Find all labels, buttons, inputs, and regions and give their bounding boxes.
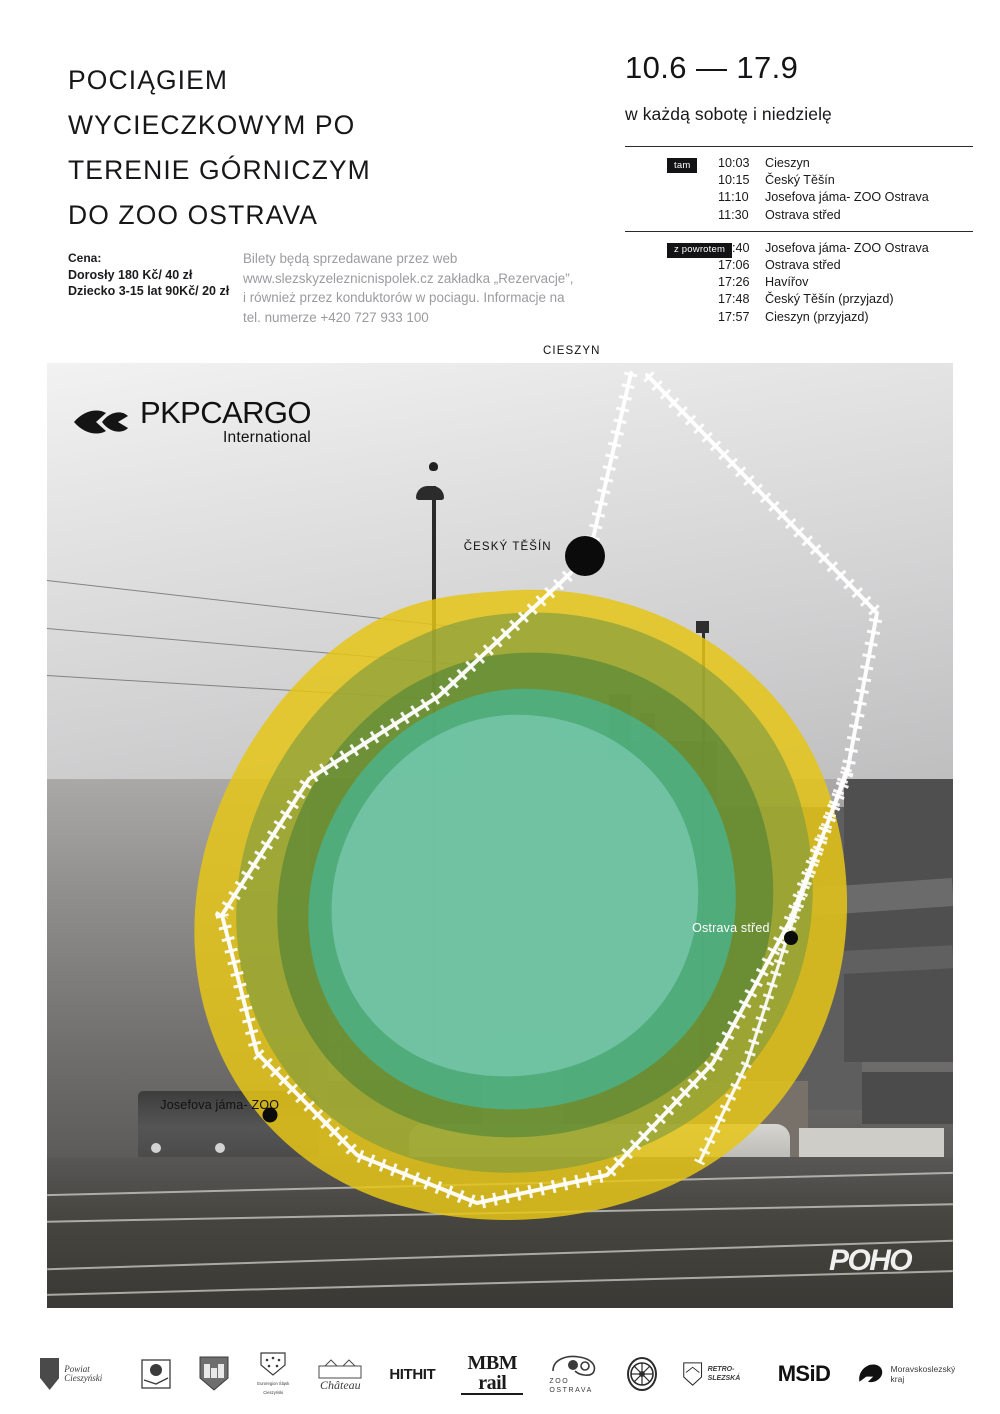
- timetable: tam 10:03 Cieszyn 10:15 Český Těšín 11:1…: [625, 146, 973, 333]
- route-path-main-ties: [222, 373, 877, 1203]
- table-row: 11:30 Ostrava střed: [718, 207, 973, 224]
- pkp-wordmark: PKPCARGO: [140, 397, 311, 429]
- retro-crest-icon: [683, 1358, 702, 1390]
- stop-name: Havířov: [765, 274, 808, 291]
- timetable-outbound: tam 10:03 Cieszyn 10:15 Český Těšín 11:1…: [625, 147, 973, 231]
- tickets-line-4: tel. numerze +420 727 933 100: [243, 308, 613, 328]
- photo-panel: 730 639-2: [47, 363, 953, 1308]
- weekdays-text: w każdą sobotę i niedzielę: [625, 104, 832, 125]
- msk-eagle-icon: [856, 1359, 885, 1389]
- date-range: 10.6 — 17.9: [625, 50, 798, 86]
- sponsor-label: RETRO-SLEZSKÁ: [708, 1365, 752, 1383]
- sponsor-label: MSiD: [778, 1361, 831, 1387]
- map-node-ostrava-stred: [784, 931, 798, 945]
- timetable-return: z powrotem 16:40 Josefova jáma- ZOO Ostr…: [625, 232, 973, 333]
- sponsor-label: Moravskoslezský kraj: [891, 1364, 960, 1384]
- towers-crest-icon: [199, 1356, 229, 1392]
- poster-root: POCIĄGIEM WYCIECZKOWYM PO TERENIE GÓRNIC…: [0, 0, 1000, 1414]
- stop-time: 17:06: [718, 257, 765, 274]
- stop-time: 10:15: [718, 172, 765, 189]
- zoo-elephant-icon: [549, 1353, 601, 1377]
- sponsor-msid: MSiD: [778, 1361, 831, 1387]
- price-adult: Dorosły 180 Kč/ 40 zł: [68, 267, 248, 284]
- sponsor-chateau: Château: [317, 1358, 363, 1390]
- stop-time: 10:03: [718, 155, 765, 172]
- tickets-line-3: i również przez konduktorów w pociagu. I…: [243, 288, 613, 308]
- stop-name: Cieszyn (przyjazd): [765, 309, 869, 326]
- sponsor-label: Powiat Cieszyński: [64, 1365, 113, 1383]
- stop-name: Ostrava střed: [765, 207, 841, 224]
- sponsor-label: HITHIT: [389, 1366, 435, 1383]
- pkp-cargo-logo: PKPCARGO International: [72, 397, 311, 446]
- map-label-josefova: Josefova jáma- ZOO: [160, 1098, 279, 1112]
- sponsor-label: MBM rail: [461, 1353, 523, 1395]
- table-row: 17:06 Ostrava střed: [718, 257, 973, 274]
- sponsor-mesto: [199, 1356, 229, 1392]
- tickets-info: Bilety będą sprzedawane przez web www.sl…: [243, 249, 613, 327]
- stop-time: 11:10: [718, 189, 765, 206]
- sponsor-slezsky-zeleznicni-spolek: [627, 1357, 657, 1391]
- stop-time: 11:30: [718, 207, 765, 224]
- stars-crest-icon: [255, 1351, 291, 1377]
- stop-name: Český Těšín: [765, 172, 835, 189]
- sponsor-euroregion: Euroregion Śląsk Cieszyński: [255, 1351, 291, 1397]
- stop-name: Josefova jáma- ZOO Ostrava: [765, 240, 929, 257]
- sponsor-powiat-cieszynski: Powiat Cieszyński: [40, 1358, 113, 1390]
- sponsor-goleszow: [139, 1356, 173, 1392]
- sponsor-moravskoslezsky-kraj: Moravskoslezský kraj: [856, 1359, 960, 1389]
- stop-time: 17:26: [718, 274, 765, 291]
- route-line: [47, 363, 953, 1308]
- price-label: Cena:: [68, 250, 248, 267]
- price-child: Dziecko 3-15 lat 90Kč/ 20 zł: [68, 283, 248, 300]
- sponsor-retro-slezska: RETRO-SLEZSKÁ: [683, 1358, 751, 1390]
- table-row: 10:15 Český Těšín: [718, 172, 973, 189]
- wheel-icon: [629, 1361, 655, 1387]
- page-title: POCIĄGIEM WYCIECZKOWYM PO TERENIE GÓRNIC…: [68, 58, 588, 238]
- tag-outbound: tam: [667, 158, 697, 173]
- sponsor-hithit: HITHIT: [389, 1366, 435, 1383]
- route-path-main: [222, 373, 877, 1203]
- pkp-arrow-icon: [72, 405, 130, 439]
- stop-time: 17:48: [718, 291, 765, 308]
- table-row: 10:03 Cieszyn: [718, 155, 973, 172]
- table-row: 17:26 Havířov: [718, 274, 973, 291]
- stop-name: Ostrava střed: [765, 257, 841, 274]
- sponsor-label: ZOO OSTRAVA: [549, 1377, 601, 1395]
- price-block: Cena: Dorosły 180 Kč/ 40 zł Dziecko 3-15…: [68, 250, 248, 300]
- map-label-ostrava-stred: Ostrava střed: [692, 921, 770, 935]
- grape-crest-icon: [139, 1356, 173, 1392]
- tag-return: z powrotem: [667, 243, 732, 258]
- table-row: 17:57 Cieszyn (przyjazd): [718, 309, 973, 326]
- sponsor-strip: Powiat Cieszyński Eu: [0, 1334, 1000, 1414]
- title-line-2: WYCIECZKOWYM PO: [68, 103, 588, 148]
- title-line-3: TERENIE GÓRNICZYM: [68, 148, 588, 193]
- map-label-cesky-tesin: ČESKÝ TĚŠÍN: [464, 541, 552, 553]
- stop-name: Cieszyn: [765, 155, 810, 172]
- table-row: 16:40 Josefova jáma- ZOO Ostrava: [718, 240, 973, 257]
- tickets-line-1: Bilety będą sprzedawane przez web: [243, 249, 613, 269]
- table-row: 17:48 Český Těšín (przyjazd): [718, 291, 973, 308]
- stop-name: Český Těšín (przyjazd): [765, 291, 894, 308]
- poho-logo: POHO: [829, 1244, 911, 1278]
- stop-name: Josefova jáma- ZOO Ostrava: [765, 189, 929, 206]
- title-line-4: DO ZOO OSTRAVA: [68, 193, 588, 238]
- pkp-sub-wordmark: International: [140, 429, 311, 446]
- sponsor-label: Euroregion Śląsk Cieszyński: [255, 1379, 291, 1397]
- eagle-crest-icon: [40, 1358, 59, 1390]
- chateau-building-icon: [317, 1358, 363, 1380]
- sponsor-mbm-rail: MBM rail: [461, 1353, 523, 1395]
- stop-time: 17:57: [718, 309, 765, 326]
- table-row: 11:10 Josefova jáma- ZOO Ostrava: [718, 189, 973, 206]
- sponsor-label: Château: [320, 1381, 361, 1390]
- map-node-cesky-tesin: [565, 536, 605, 576]
- map-label-cieszyn: CIESZYN: [543, 345, 601, 357]
- sponsor-zoo-ostrava: ZOO OSTRAVA: [549, 1353, 601, 1395]
- title-line-1: POCIĄGIEM: [68, 58, 588, 103]
- tickets-line-2: www.slezskyzeleznicnispolek.cz zakładka …: [243, 269, 613, 289]
